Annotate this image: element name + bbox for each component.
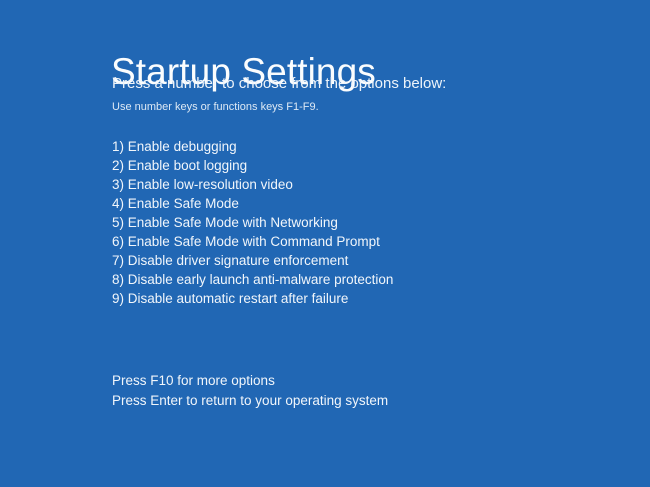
startup-settings-screen: Startup Settings Press a number to choos… — [0, 0, 650, 487]
option-label-8: Disable early launch anti-malware protec… — [128, 272, 394, 287]
option-label-2: Enable boot logging — [128, 158, 247, 173]
startup-option-9[interactable]: 9) Disable automatic restart after failu… — [112, 289, 393, 308]
option-key-4: 4) — [112, 196, 124, 211]
startup-options-list: 1) Enable debugging 2) Enable boot loggi… — [112, 137, 393, 308]
more-options-action[interactable]: Press F10 for more options — [112, 371, 388, 391]
option-key-9: 9) — [112, 291, 124, 306]
option-key-6: 6) — [112, 234, 124, 249]
startup-option-8[interactable]: 8) Disable early launch anti-malware pro… — [112, 270, 393, 289]
footer-actions: Press F10 for more options Press Enter t… — [112, 371, 388, 411]
option-label-5: Enable Safe Mode with Networking — [128, 215, 338, 230]
startup-option-5[interactable]: 5) Enable Safe Mode with Networking — [112, 213, 393, 232]
option-key-1: 1) — [112, 139, 124, 154]
startup-option-7[interactable]: 7) Disable driver signature enforcement — [112, 251, 393, 270]
return-to-os-action[interactable]: Press Enter to return to your operating … — [112, 391, 388, 411]
startup-option-3[interactable]: 3) Enable low-resolution video — [112, 175, 393, 194]
startup-option-4[interactable]: 4) Enable Safe Mode — [112, 194, 393, 213]
option-label-7: Disable driver signature enforcement — [128, 253, 349, 268]
startup-option-1[interactable]: 1) Enable debugging — [112, 137, 393, 156]
option-key-8: 8) — [112, 272, 124, 287]
keyboard-hint-text: Use number keys or functions keys F1-F9. — [112, 100, 319, 114]
startup-option-6[interactable]: 6) Enable Safe Mode with Command Prompt — [112, 232, 393, 251]
option-label-1: Enable debugging — [128, 139, 237, 154]
option-label-9: Disable automatic restart after failure — [128, 291, 349, 306]
option-key-3: 3) — [112, 177, 124, 192]
option-key-2: 2) — [112, 158, 124, 173]
instruction-subtitle: Press a number to choose from the option… — [112, 74, 446, 94]
option-label-3: Enable low-resolution video — [128, 177, 293, 192]
option-key-7: 7) — [112, 253, 124, 268]
option-key-5: 5) — [112, 215, 124, 230]
startup-option-2[interactable]: 2) Enable boot logging — [112, 156, 393, 175]
option-label-4: Enable Safe Mode — [128, 196, 239, 211]
option-label-6: Enable Safe Mode with Command Prompt — [128, 234, 380, 249]
